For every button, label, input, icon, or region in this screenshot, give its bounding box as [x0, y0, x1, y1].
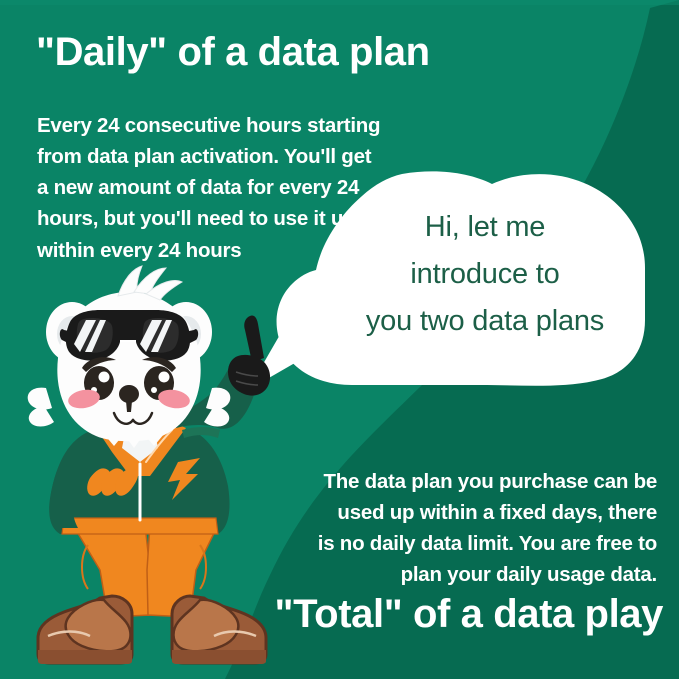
- daily-line-2: from data plan activation. You'll get: [37, 141, 409, 172]
- page-subtitle: "Total" of a data play: [275, 592, 663, 636]
- total-plan-description: The data plan you purchase can be used u…: [237, 466, 657, 591]
- mascot-group: [28, 266, 270, 664]
- bubble-line-3: you two data plans: [330, 298, 640, 345]
- bubble-line-2: introduce to: [330, 251, 640, 298]
- mascot-glove-icon: [228, 315, 270, 395]
- page-title: "Daily" of a data plan: [36, 30, 596, 74]
- daily-line-3: a new amount of data for every 24: [37, 172, 409, 203]
- total-line-3: is no daily data limit. You are free to: [237, 528, 657, 559]
- bubble-line-1: Hi, let me: [330, 204, 640, 251]
- daily-line-1: Every 24 consecutive hours starting: [37, 110, 409, 141]
- total-line-1: The data plan you purchase can be: [237, 466, 657, 497]
- speech-bubble-text: Hi, let me introduce to you two data pla…: [330, 204, 640, 345]
- total-line-2: used up within a fixed days, there: [237, 497, 657, 528]
- poster-canvas: "Daily" of a data plan Every 24 consecut…: [0, 0, 679, 679]
- total-line-4: plan your daily usage data.: [237, 559, 657, 590]
